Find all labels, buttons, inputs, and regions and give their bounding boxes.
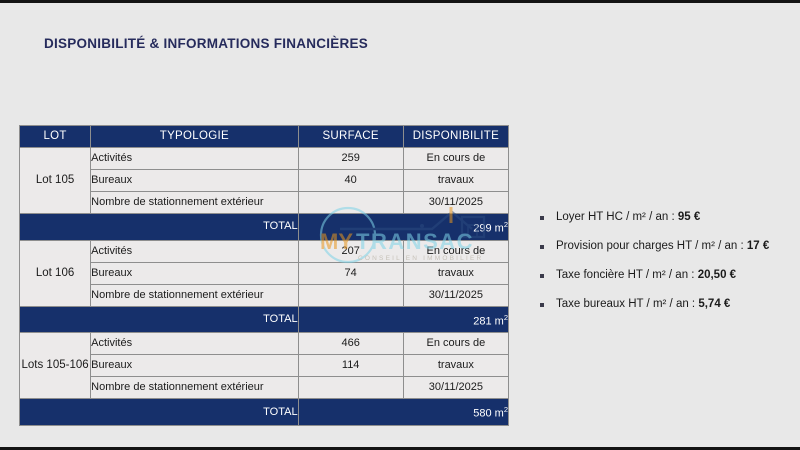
table-row: Lot 106Activités207En cours de bbox=[20, 240, 509, 262]
cell-disponibilite: En cours de bbox=[403, 333, 508, 355]
financial-info-list: Loyer HT HC / m² / an : 95 €Provision po… bbox=[538, 211, 788, 327]
table-body: Lot 105Activités259En cours deBureaux40t… bbox=[20, 148, 509, 426]
table-row: Lot 105Activités259En cours de bbox=[20, 148, 509, 170]
table-total-row: TOTAL580 m2 bbox=[20, 399, 509, 426]
cell-surface: 74 bbox=[298, 262, 403, 284]
total-label: TOTAL bbox=[20, 214, 299, 241]
column-header-lot: LOT bbox=[20, 126, 91, 148]
finance-item-label: Provision pour charges HT / m² / an : bbox=[556, 240, 747, 252]
square-bullet-icon bbox=[540, 245, 544, 249]
total-value-unit: m bbox=[495, 315, 504, 327]
cell-typologie: Nombre de stationnement extérieur bbox=[91, 377, 298, 399]
total-value: 281 m2 bbox=[298, 306, 508, 333]
cell-typologie: Bureaux bbox=[91, 170, 298, 192]
list-item: Taxe bureaux HT / m² / an : 5,74 € bbox=[538, 298, 788, 310]
finance-item-value: 20,50 € bbox=[698, 269, 736, 281]
cell-disponibilite: 30/11/2025 bbox=[403, 377, 508, 399]
finance-item-value: 95 € bbox=[678, 211, 700, 223]
finance-item-value: 17 € bbox=[747, 240, 769, 252]
square-bullet-icon bbox=[540, 274, 544, 278]
total-label: TOTAL bbox=[20, 306, 299, 333]
cell-typologie: Bureaux bbox=[91, 262, 298, 284]
total-value-unit-exponent: 2 bbox=[504, 405, 508, 414]
cell-disponibilite: travaux bbox=[403, 170, 508, 192]
table-row: Bureaux40travaux bbox=[20, 170, 509, 192]
list-item: Loyer HT HC / m² / an : 95 € bbox=[538, 211, 788, 223]
cell-disponibilite: travaux bbox=[403, 355, 508, 377]
cell-surface: 40 bbox=[298, 170, 403, 192]
table-row: Bureaux114travaux bbox=[20, 355, 509, 377]
table-row: Lots 105-106Activités466En cours de bbox=[20, 333, 509, 355]
cell-lot: Lots 105-106 bbox=[20, 333, 91, 399]
cell-disponibilite: En cours de bbox=[403, 148, 508, 170]
cell-lot: Lot 105 bbox=[20, 148, 91, 214]
total-value-number: 299 bbox=[473, 223, 491, 235]
slide-canvas: DISPONIBILITÉ & INFORMATIONS FINANCIÈRES… bbox=[0, 3, 800, 447]
cell-surface: 259 bbox=[298, 148, 403, 170]
cell-typologie: Activités bbox=[91, 240, 298, 262]
finance-item-label: Loyer HT HC / m² / an : bbox=[556, 211, 678, 223]
table-row: Nombre de stationnement extérieur30/11/2… bbox=[20, 377, 509, 399]
cell-typologie: Bureaux bbox=[91, 355, 298, 377]
total-value-unit: m bbox=[495, 223, 504, 235]
cell-typologie: Nombre de stationnement extérieur bbox=[91, 192, 298, 214]
cell-surface: 466 bbox=[298, 333, 403, 355]
table-header: LOT TYPOLOGIE SURFACE DISPONIBILITE bbox=[20, 126, 509, 148]
table-row: Bureaux74travaux bbox=[20, 262, 509, 284]
cell-disponibilite: travaux bbox=[403, 262, 508, 284]
cell-surface bbox=[298, 192, 403, 214]
total-value: 299 m2 bbox=[298, 214, 508, 241]
cell-disponibilite: 30/11/2025 bbox=[403, 192, 508, 214]
finance-item-label: Taxe bureaux HT / m² / an : bbox=[556, 298, 698, 310]
table-header-row: LOT TYPOLOGIE SURFACE DISPONIBILITE bbox=[20, 126, 509, 148]
list-item: Taxe foncière HT / m² / an : 20,50 € bbox=[538, 269, 788, 281]
column-header-surface: SURFACE bbox=[298, 126, 403, 148]
cell-lot: Lot 106 bbox=[20, 240, 91, 306]
cell-typologie: Activités bbox=[91, 148, 298, 170]
total-label: TOTAL bbox=[20, 399, 299, 426]
total-value-unit-exponent: 2 bbox=[504, 313, 508, 322]
square-bullet-icon bbox=[540, 216, 544, 220]
table-total-row: TOTAL281 m2 bbox=[20, 306, 509, 333]
total-value-unit: m bbox=[495, 408, 504, 420]
table-row: Nombre de stationnement extérieur30/11/2… bbox=[20, 192, 509, 214]
square-bullet-icon bbox=[540, 303, 544, 307]
availability-table: LOT TYPOLOGIE SURFACE DISPONIBILITE Lot … bbox=[19, 125, 509, 426]
cell-surface bbox=[298, 284, 403, 306]
table-row: Nombre de stationnement extérieur30/11/2… bbox=[20, 284, 509, 306]
total-value-unit-exponent: 2 bbox=[504, 220, 508, 229]
table-total-row: TOTAL299 m2 bbox=[20, 214, 509, 241]
cell-surface: 114 bbox=[298, 355, 403, 377]
cell-disponibilite: 30/11/2025 bbox=[403, 284, 508, 306]
cell-surface bbox=[298, 377, 403, 399]
list-item: Provision pour charges HT / m² / an : 17… bbox=[538, 240, 788, 252]
total-value-number: 281 bbox=[473, 315, 491, 327]
finance-item-label: Taxe foncière HT / m² / an : bbox=[556, 269, 698, 281]
column-header-typologie: TYPOLOGIE bbox=[91, 126, 298, 148]
cell-typologie: Activités bbox=[91, 333, 298, 355]
total-value: 580 m2 bbox=[298, 399, 508, 426]
cell-typologie: Nombre de stationnement extérieur bbox=[91, 284, 298, 306]
column-header-disponibilite: DISPONIBILITE bbox=[403, 126, 508, 148]
finance-item-value: 5,74 € bbox=[698, 298, 730, 310]
cell-disponibilite: En cours de bbox=[403, 240, 508, 262]
page-title: DISPONIBILITÉ & INFORMATIONS FINANCIÈRES bbox=[44, 36, 368, 51]
total-value-number: 580 bbox=[473, 408, 491, 420]
cell-surface: 207 bbox=[298, 240, 403, 262]
